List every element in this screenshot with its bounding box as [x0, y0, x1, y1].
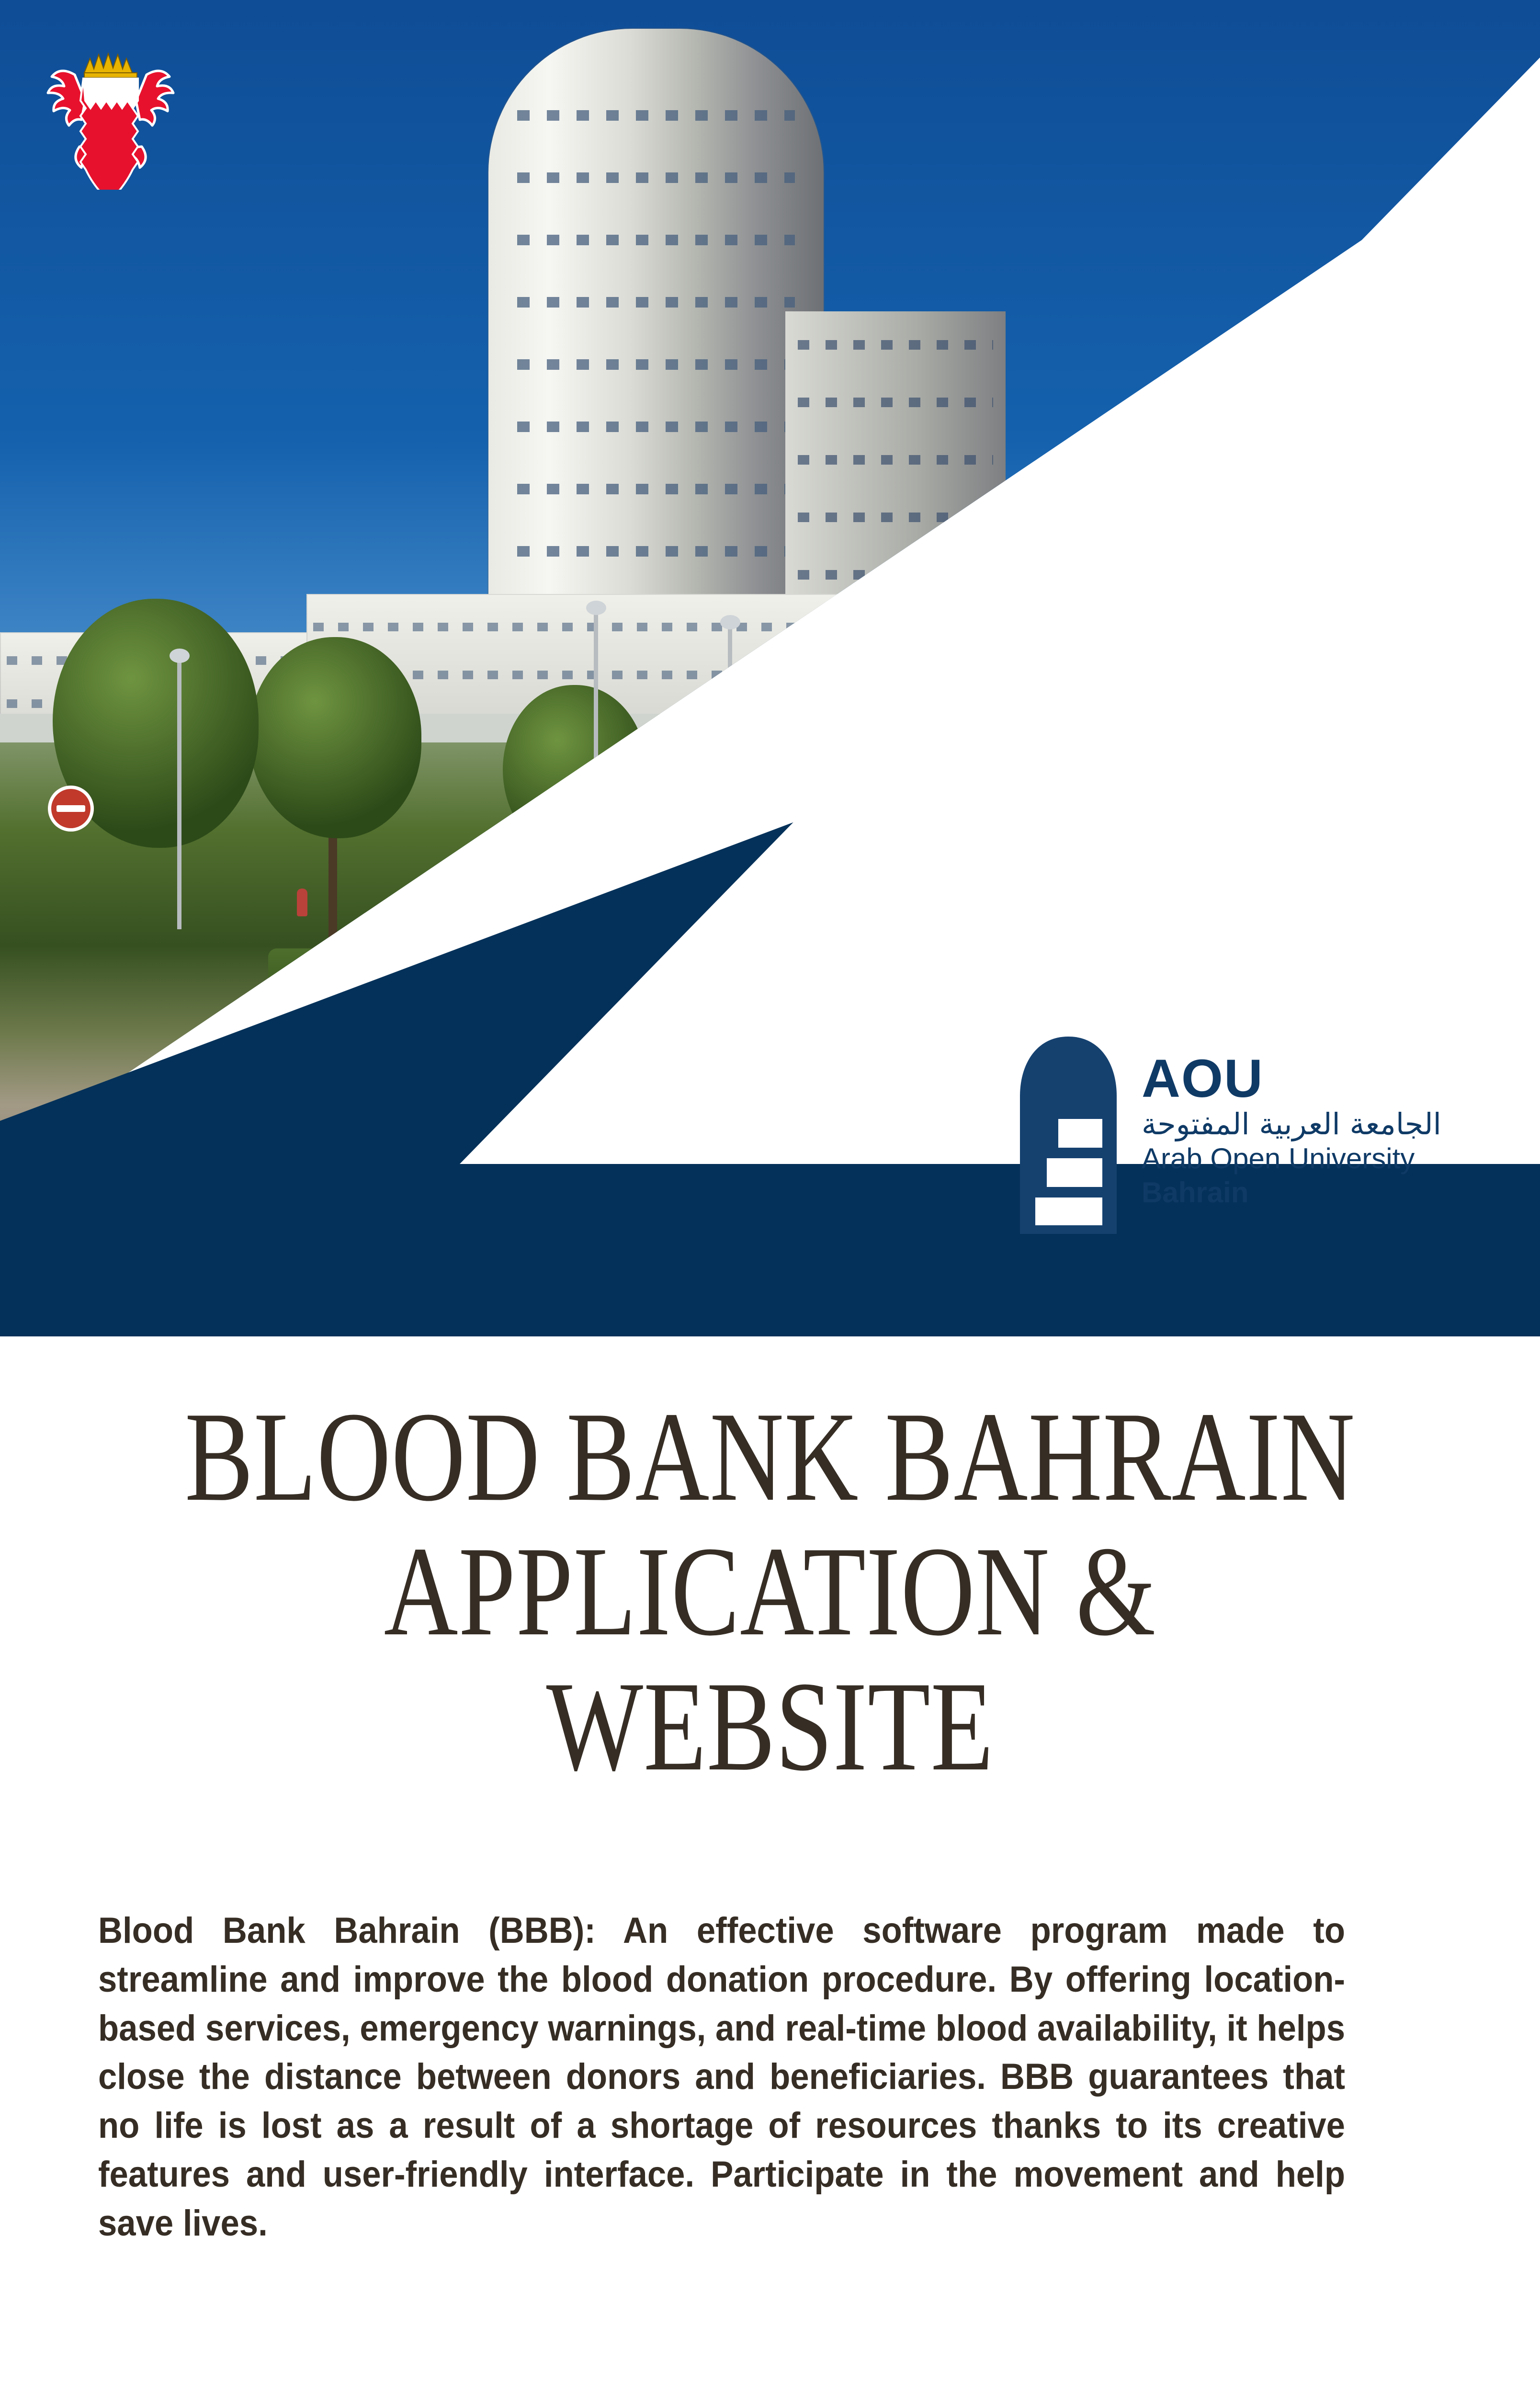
street-lamp — [594, 613, 598, 910]
aou-mark-icon — [1017, 1035, 1120, 1236]
street-lamp — [177, 661, 181, 929]
page-title: BLOOD BANK BAHRAIN APPLICATION & WEBSITE — [154, 1389, 1386, 1793]
aou-english-name: Arab Open University — [1142, 1142, 1441, 1175]
tree — [503, 685, 646, 857]
aou-acronym: AOU — [1142, 1055, 1441, 1103]
pedestrian — [297, 889, 307, 916]
aou-campus-name: Bahrain — [1142, 1176, 1441, 1209]
page-title-block: BLOOD BANK BAHRAIN APPLICATION & WEBSITE — [0, 1389, 1540, 1793]
aou-logo: AOU الجامعة العربية المفتوحة Arab Open U… — [1017, 1035, 1506, 1245]
aou-arabic-name: الجامعة العربية المفتوحة — [1142, 1107, 1441, 1141]
hero-section: Hospital Universitari de Bellvitge — [0, 0, 1540, 1336]
description-paragraph: Blood Bank Bahrain (BBB): An effective s… — [98, 1906, 1345, 2248]
bahrain-coat-of-arms-icon — [46, 46, 175, 190]
tree — [249, 637, 421, 838]
tree-trunk — [328, 814, 337, 987]
no-entry-sign — [680, 810, 714, 844]
no-entry-sign — [48, 786, 94, 832]
